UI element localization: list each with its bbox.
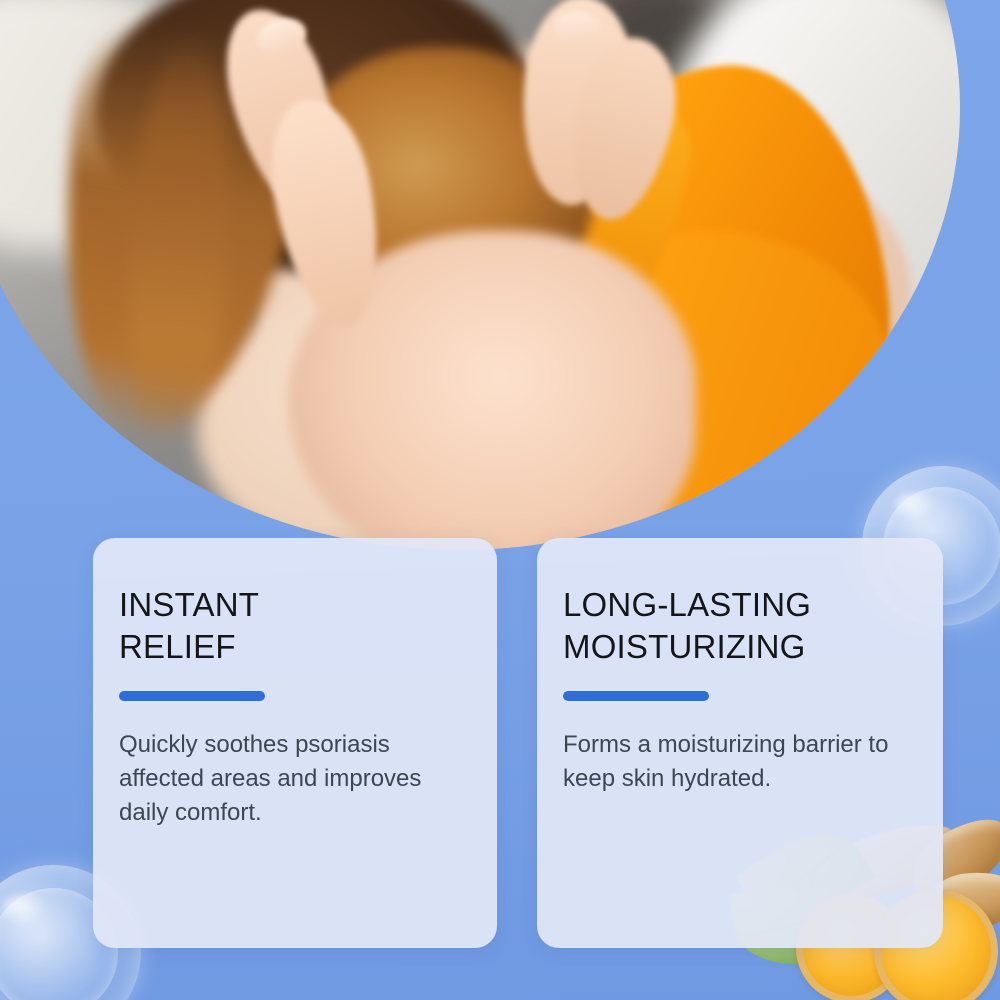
benefit-card-title: LONG-LASTING MOISTURIZING [563, 584, 913, 667]
benefit-card-description: Forms a moisturizing barrier to keep ski… [563, 728, 913, 796]
benefit-card-long-lasting-moisturizing: LONG-LASTING MOISTURIZING Forms a moistu… [537, 538, 943, 948]
benefit-card-accent-bar [563, 691, 709, 701]
benefit-card-title: INSTANT RELIEF [119, 584, 467, 667]
product-benefit-infographic: INSTANT RELIEF Quickly soothes psoriasis… [0, 0, 1000, 1000]
hero-photo-medallion [0, 0, 968, 559]
benefit-card-accent-bar [119, 691, 265, 701]
hero-photo-image [0, 0, 968, 557]
benefit-card-instant-relief: INSTANT RELIEF Quickly soothes psoriasis… [93, 538, 497, 948]
benefit-card-description: Quickly soothes psoriasis affected areas… [119, 728, 467, 830]
